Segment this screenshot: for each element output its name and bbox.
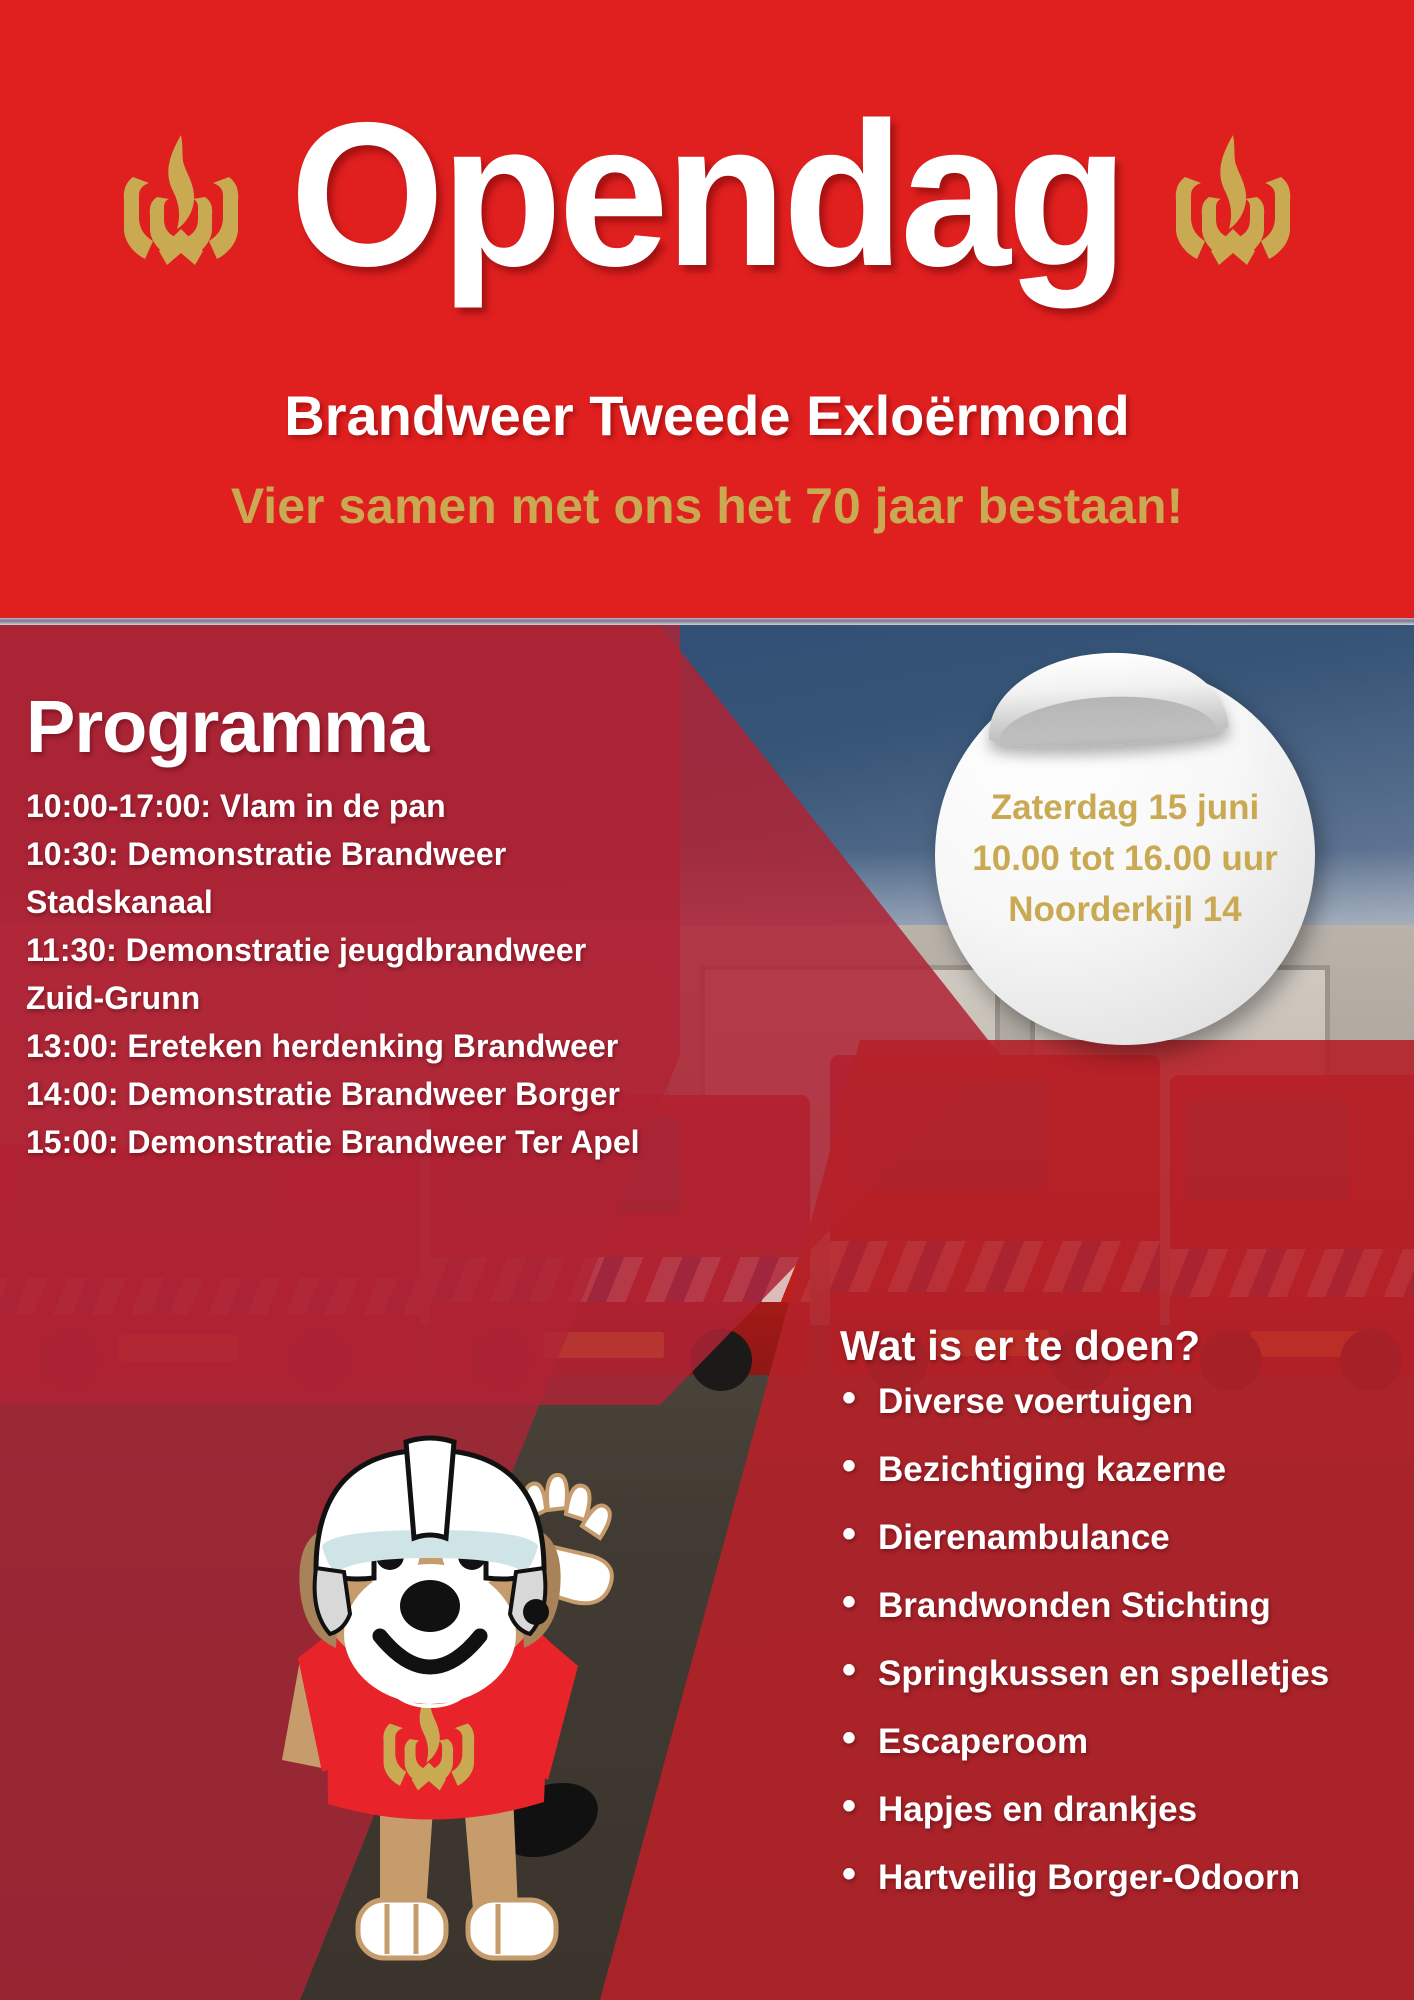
program-heading: Programma — [26, 690, 686, 764]
list-item: Diverse voertuigen — [840, 1384, 1410, 1419]
activities-heading: Wat is er te doen? — [840, 1322, 1410, 1370]
poster-header: Opendag Brandweer Tweede Exloërmond Vier… — [0, 0, 1414, 625]
brandweer-flame-icon-left — [121, 125, 241, 265]
header-divider — [0, 618, 1414, 625]
program-line: 11:30: Demonstratie jeugdbrandweer — [26, 926, 686, 974]
list-item: Hartveilig Borger-Odoorn — [840, 1860, 1410, 1895]
activities-section: Wat is er te doen? Diverse voertuigen Be… — [840, 1322, 1410, 1928]
firefighter-dog-mascot — [230, 1400, 630, 2000]
poster-root: Opendag Brandweer Tweede Exloërmond Vier… — [0, 0, 1414, 2000]
program-line: Zuid-Grunn — [26, 974, 686, 1022]
sticker-address: Noorderkijl 14 — [935, 885, 1315, 936]
list-item: Dierenambulance — [840, 1520, 1410, 1555]
sticker-text-block: Zaterdag 15 juni 10.00 tot 16.00 uur Noo… — [935, 783, 1315, 935]
list-item: Escaperoom — [840, 1724, 1410, 1759]
program-line: Stadskanaal — [26, 878, 686, 926]
list-item: Hapjes en drankjes — [840, 1792, 1410, 1827]
program-line: 14:00: Demonstratie Brandweer Borger — [26, 1070, 686, 1118]
page-title: Opendag — [290, 105, 1125, 285]
header-subtitle: Brandweer Tweede Exloërmond — [0, 383, 1414, 448]
program-section: Programma 10:00-17:00: Vlam in de pan 10… — [26, 690, 686, 1166]
sticker-date: Zaterdag 15 juni — [935, 783, 1315, 834]
brandweer-flame-icon-right — [1173, 125, 1293, 265]
list-item: Brandwonden Stichting — [840, 1588, 1410, 1623]
list-item: Bezichtiging kazerne — [840, 1452, 1410, 1487]
sticker-time: 10.00 tot 16.00 uur — [935, 834, 1315, 885]
date-sticker: Zaterdag 15 juni 10.00 tot 16.00 uur Noo… — [935, 665, 1315, 1045]
title-row: Opendag — [0, 95, 1414, 295]
activities-list: Diverse voertuigen Bezichtiging kazerne … — [840, 1384, 1410, 1895]
program-line: 13:00: Ereteken herdenking Brandweer — [26, 1022, 686, 1070]
program-line: 10:00-17:00: Vlam in de pan — [26, 782, 686, 830]
header-tagline: Vier samen met ons het 70 jaar bestaan! — [0, 477, 1414, 535]
program-line: 15:00: Demonstratie Brandweer Ter Apel — [26, 1118, 686, 1166]
program-line: 10:30: Demonstratie Brandweer — [26, 830, 686, 878]
list-item: Springkussen en spelletjes — [840, 1656, 1410, 1691]
